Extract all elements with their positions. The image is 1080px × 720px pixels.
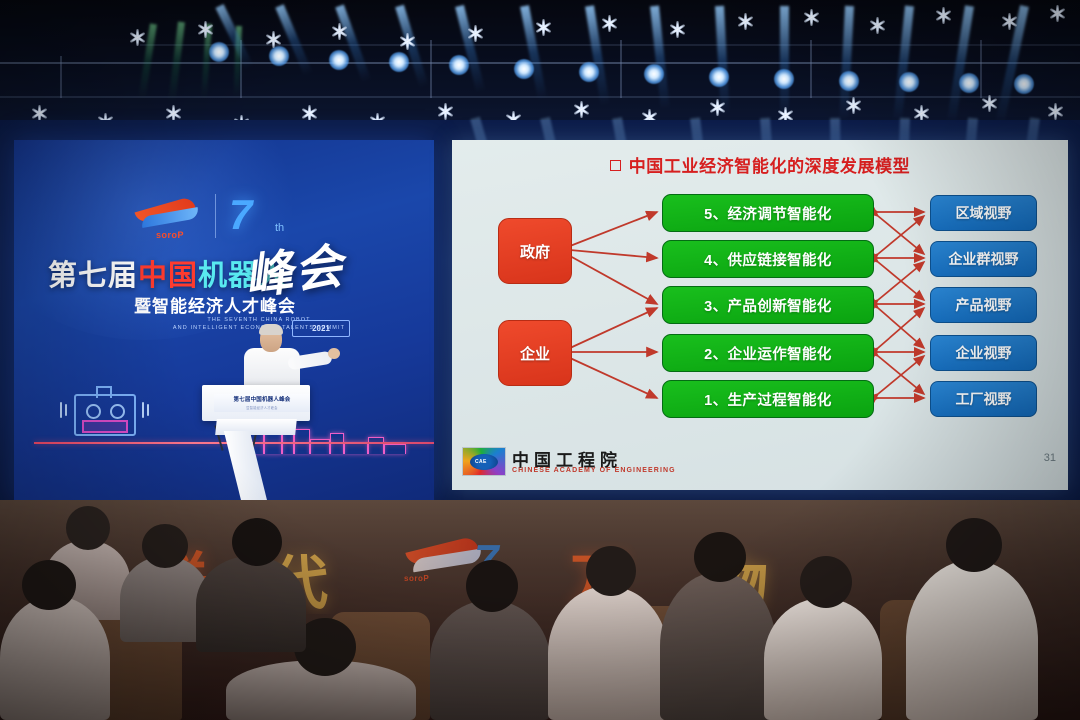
ceiling-lighting-rig xyxy=(0,0,1080,135)
star-light-fixture-icon xyxy=(868,16,886,34)
banner-subtitle: 暨智能经济人才峰会 xyxy=(134,292,296,317)
star-light-fixture-icon xyxy=(572,100,590,118)
logo-divider xyxy=(215,194,216,238)
star-light-fixture-icon xyxy=(980,94,998,112)
star-light-fixture-icon xyxy=(668,20,686,38)
swoosh-logo-label: soroP xyxy=(131,230,209,240)
cae-name-en: CHINESE ACADEMY OF ENGINEERING xyxy=(512,467,676,474)
light-beam-head xyxy=(959,73,979,93)
projected-slide: 中国工业经济智能化的深度发展模型 xyxy=(452,140,1068,490)
star-light-fixture-icon xyxy=(600,14,618,32)
node-view-regional: 区域视野 xyxy=(930,195,1037,231)
development-model-diagram: 政府 企业 5、经济调节智能化 4、供应链接智能化 3、产品创新智能化 2、企业… xyxy=(452,188,1068,438)
slide-footer-logo: CAE 中国工程院 CHINESE ACADEMY OF ENGINEERING xyxy=(462,446,762,480)
star-light-fixture-icon xyxy=(1046,102,1064,120)
star-light-fixture-icon xyxy=(708,98,726,116)
star-light-fixture-icon xyxy=(534,18,552,36)
swoosh-logo-icon: soroP xyxy=(131,196,205,230)
podium-sign: 第七届中国机器人峰会 暨智能经济人才峰会 xyxy=(214,394,310,412)
star-light-fixture-icon xyxy=(844,96,862,114)
cae-emblem-icon: CAE xyxy=(462,447,506,476)
banner-title-part1: 第七届 xyxy=(48,260,138,292)
light-beam-head xyxy=(774,69,794,89)
light-beam-head xyxy=(899,72,919,92)
node-level-3-label: 产品创新智能化 xyxy=(728,295,832,316)
light-beam-head xyxy=(209,42,229,62)
light-beam-head xyxy=(389,52,409,72)
star-light-fixture-icon xyxy=(330,22,348,40)
light-beam xyxy=(650,6,670,110)
node-level-4-index: 4、 xyxy=(704,249,727,270)
light-beam-head xyxy=(449,55,469,75)
slide-title-row: 中国工业经济智能化的深度发展模型 xyxy=(452,152,1068,177)
light-beam-head xyxy=(329,50,349,70)
light-beam-head xyxy=(269,46,289,66)
star-light-fixture-icon xyxy=(466,24,484,42)
audience-person xyxy=(906,560,1038,720)
node-level-2-label: 企业运作智能化 xyxy=(728,343,832,364)
podium-sign-subtitle: 暨智能经济人才峰会 xyxy=(214,405,310,410)
audience-person xyxy=(548,586,668,720)
star-light-fixture-icon xyxy=(128,28,146,46)
node-level-4: 4、供应链接智能化 xyxy=(662,240,874,278)
slide-title: 中国工业经济智能化的深度发展模型 xyxy=(629,157,911,176)
star-light-fixture-icon xyxy=(398,32,416,50)
node-level-3-index: 3、 xyxy=(704,295,727,316)
node-level-4-label: 供应链接智能化 xyxy=(728,249,832,270)
audience-person xyxy=(0,596,110,720)
audience-person xyxy=(764,598,882,720)
light-beam-head xyxy=(579,62,599,82)
stage-scene: soroP 7 th 第七届中国机器人 峰会 暨智能经济人才峰会 THE SEV… xyxy=(0,0,1080,720)
star-light-fixture-icon xyxy=(802,8,820,26)
star-light-fixture-icon xyxy=(436,102,454,120)
node-level-5: 5、经济调节智能化 xyxy=(662,194,874,232)
star-light-fixture-icon xyxy=(264,30,282,48)
node-view-enterprise: 企业视野 xyxy=(930,335,1037,371)
node-level-2: 2、企业运作智能化 xyxy=(662,334,874,372)
node-level-5-index: 5、 xyxy=(704,203,727,224)
star-light-fixture-icon xyxy=(1000,12,1018,30)
node-level-5-label: 经济调节智能化 xyxy=(728,203,832,224)
robot-face-icon xyxy=(56,384,156,446)
audience-person xyxy=(196,556,306,652)
light-beam-head xyxy=(839,71,859,91)
star-light-fixture-icon xyxy=(196,20,214,38)
light-beam-head xyxy=(1014,74,1034,94)
slide-page-number: 31 xyxy=(1044,452,1056,464)
light-beam-head xyxy=(514,59,534,79)
bullet-square-icon xyxy=(610,160,621,171)
audience-person xyxy=(430,600,550,720)
node-enterprise: 企业 xyxy=(498,320,572,386)
node-view-enterprise-group: 企业群视野 xyxy=(930,241,1037,277)
audience-person xyxy=(660,572,776,720)
light-beam xyxy=(780,6,789,118)
banner-title-part2: 中国 xyxy=(138,260,198,292)
podium-sign-title: 第七届中国机器人峰会 xyxy=(214,394,310,405)
star-light-fixture-icon xyxy=(934,6,952,24)
node-government-label: 政府 xyxy=(520,241,550,262)
node-level-3: 3、产品创新智能化 xyxy=(662,286,874,324)
node-level-1: 1、生产过程智能化 xyxy=(662,380,874,418)
node-view-factory: 工厂视野 xyxy=(930,381,1037,417)
light-beam xyxy=(455,5,485,93)
node-level-1-label: 生产过程智能化 xyxy=(728,389,832,410)
light-beam-head xyxy=(709,67,729,87)
node-view-product: 产品视野 xyxy=(930,287,1037,323)
podium: 第七届中国机器人峰会 暨智能经济人才峰会 xyxy=(196,385,316,510)
node-government: 政府 xyxy=(498,218,572,284)
cae-abbr-label: CAE xyxy=(475,459,487,465)
node-level-2-index: 2、 xyxy=(704,343,727,364)
node-level-1-index: 1、 xyxy=(704,389,727,410)
star-light-fixture-icon xyxy=(1048,4,1066,22)
star-light-fixture-icon xyxy=(736,12,754,30)
node-enterprise-label: 企业 xyxy=(520,343,550,364)
